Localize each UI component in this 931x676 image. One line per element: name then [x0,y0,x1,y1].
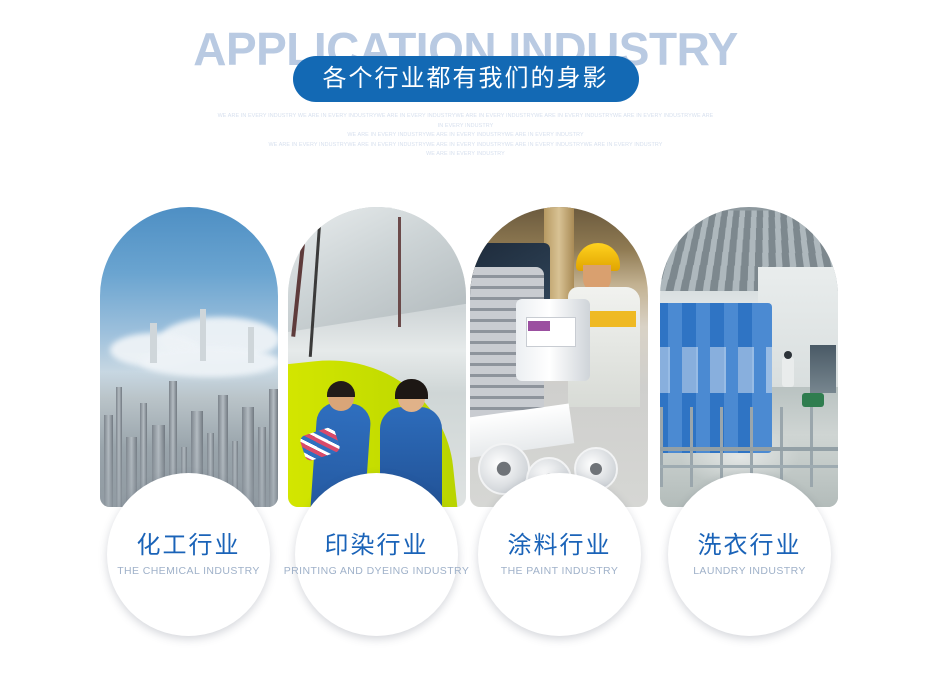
label-cn-laundry: 洗衣行业 [698,532,802,558]
label-circle-laundry[interactable]: 洗衣行业 LAUNDRY INDUSTRY [668,473,831,636]
micro-text-line-3: WE ARE IN EVERY INDUSTRYWE ARE IN EVERY … [256,141,676,151]
chemical-plant-photo [100,207,278,507]
label-en-laundry: LAUNDRY INDUSTRY [693,565,806,577]
label-en-printing-dyeing: PRINTING AND DYEING INDUSTRY [284,565,469,577]
label-circle-paint[interactable]: 涂料行业 THE PAINT INDUSTRY [478,473,641,636]
printing-dyeing-workers-photo [288,207,466,507]
page-header: APPLICATION INDUSTRY 各个行业都有我们的身影 WE ARE … [0,0,931,175]
micro-text-line-2: WE ARE IN EVERY INDUSTRYWE ARE IN EVERY … [301,131,631,141]
industry-card-laundry[interactable] [660,207,838,507]
label-circle-printing-dyeing[interactable]: 印染行业 PRINTING AND DYEING INDUSTRY [295,473,458,636]
micro-repeat-text-block: WE ARE IN EVERY INDUSTRY WE ARE IN EVERY… [0,112,931,160]
label-cn-chemical: 化工行业 [137,532,241,558]
label-cn-printing-dyeing: 印染行业 [325,532,429,558]
micro-text-line-4: WE ARE IN EVERY INDUSTRY [376,150,556,160]
label-cn-paint: 涂料行业 [508,532,612,558]
micro-text-line-1: WE ARE IN EVERY INDUSTRY WE ARE IN EVERY… [216,112,716,131]
label-circle-chemical[interactable]: 化工行业 THE CHEMICAL INDUSTRY [107,473,270,636]
industry-card-printing-dyeing[interactable] [288,207,466,507]
industrial-laundry-machines-photo [660,207,838,507]
subtitle-pill-badge: 各个行业都有我们的身影 [293,56,639,102]
industry-card-paint[interactable] [470,207,648,507]
industry-card-row [0,207,931,507]
paint-buckets-worker-photo [470,207,648,507]
label-en-paint: THE PAINT INDUSTRY [501,565,618,577]
industry-card-chemical[interactable] [100,207,278,507]
label-en-chemical: THE CHEMICAL INDUSTRY [117,565,260,577]
